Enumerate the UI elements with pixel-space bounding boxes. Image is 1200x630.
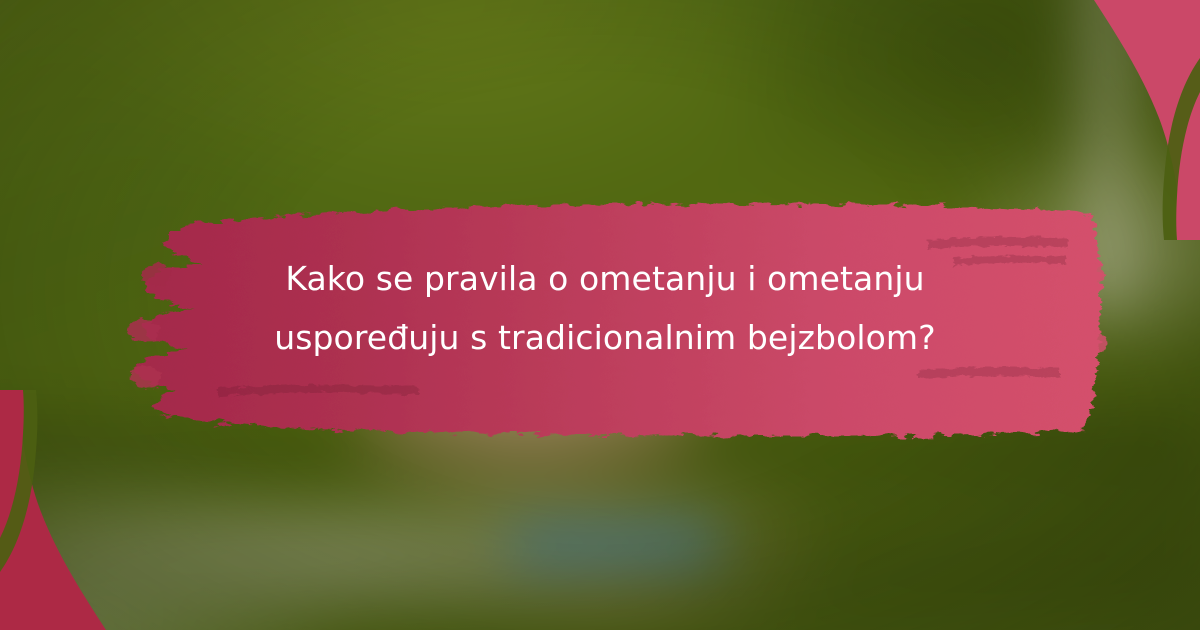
headline: Kako se pravila o ometanju i ometanju us… bbox=[140, 250, 1070, 367]
headline-line-1: Kako se pravila o ometanju i ometanju bbox=[140, 250, 1070, 309]
headline-line-2: uspoređuju s tradicionalnim bejzbolom? bbox=[140, 309, 1070, 368]
share-card: Kako se pravila o ometanju i ometanju us… bbox=[0, 0, 1200, 630]
